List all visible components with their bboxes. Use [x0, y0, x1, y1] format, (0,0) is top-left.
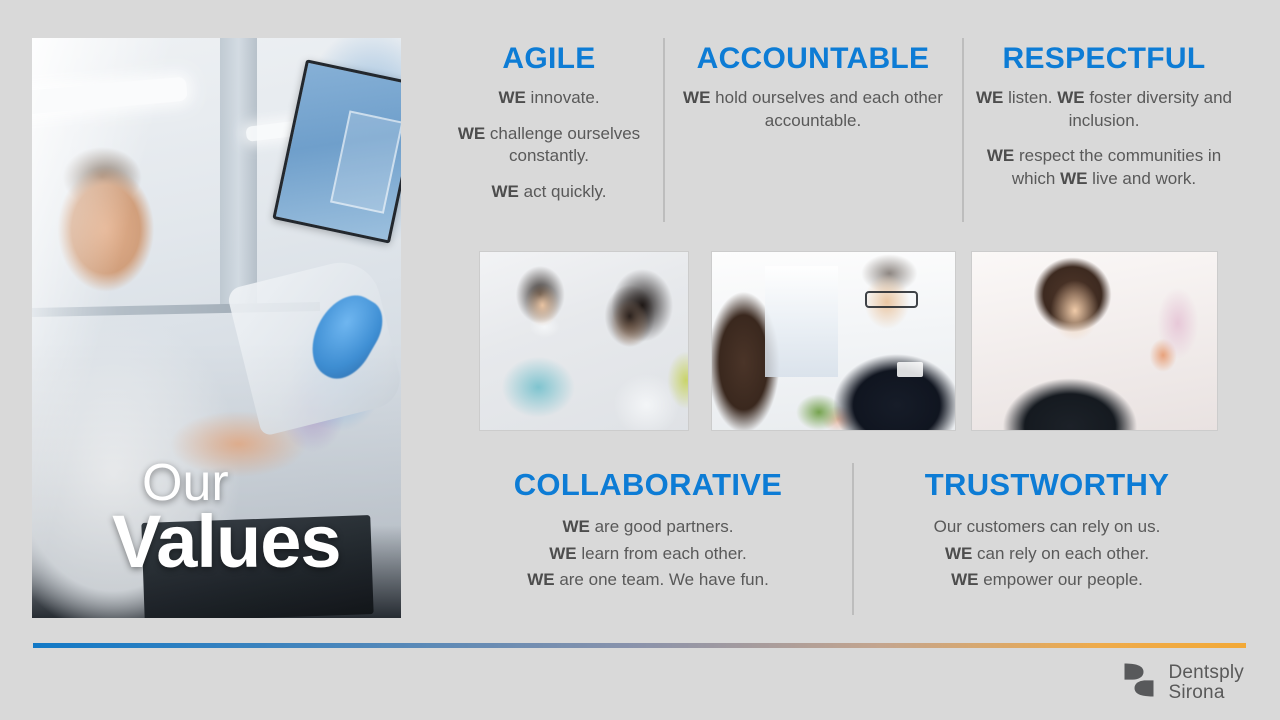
value-title-trustworthy: TRUSTWORTHY — [878, 468, 1216, 502]
emphasis-we: WE — [549, 544, 576, 563]
divider-collaborative-trustworthy — [852, 463, 854, 615]
value-text: learn from each other. — [577, 544, 747, 563]
photo-2-shirt-logo — [897, 362, 924, 376]
value-body-agile: WE innovate.WE challenge ourselves const… — [455, 87, 643, 203]
brand-line-2: Sirona — [1168, 683, 1244, 703]
value-line: WE respect the communities in which WE l… — [975, 145, 1233, 190]
value-line: WE innovate. — [455, 87, 643, 110]
footer-gradient-bar — [33, 643, 1246, 648]
slide-canvas: Our Values AGILE WE innovate.WE challeng… — [0, 0, 1280, 720]
value-column-accountable: ACCOUNTABLE WE hold ourselves and each o… — [682, 42, 944, 132]
emphasis-we: WE — [492, 182, 519, 201]
photo-1-content — [480, 252, 688, 430]
value-column-collaborative: COLLABORATIVE WE are good partners.WE le… — [486, 468, 810, 594]
emphasis-we: WE — [683, 88, 710, 107]
value-text: are good partners. — [590, 517, 734, 536]
value-text: challenge ourselves constantly. — [485, 124, 640, 166]
photo-2-glasses — [865, 291, 918, 307]
value-title-collaborative: COLLABORATIVE — [486, 468, 810, 502]
emphasis-we: WE — [945, 544, 972, 563]
photo-clinician-with-model — [712, 252, 955, 430]
value-column-agile: AGILE WE innovate.WE challenge ourselves… — [455, 42, 643, 203]
value-text: live and work. — [1087, 169, 1196, 188]
value-text: empower our people. — [978, 570, 1142, 589]
value-title-respectful: RESPECTFUL — [975, 42, 1233, 75]
emphasis-we: WE — [1057, 88, 1084, 107]
dentsply-sirona-mark-icon — [1122, 662, 1156, 703]
value-text: can rely on each other. — [972, 544, 1149, 563]
value-line: WE learn from each other. — [486, 541, 810, 568]
emphasis-we: WE — [1060, 169, 1087, 188]
value-body-trustworthy: Our customers can rely on us.WE can rely… — [878, 514, 1216, 594]
emphasis-we: WE — [527, 570, 554, 589]
value-body-respectful: WE listen. WE foster diversity and inclu… — [975, 87, 1233, 190]
emphasis-we: WE — [987, 146, 1014, 165]
value-body-accountable: WE hold ourselves and each other account… — [682, 87, 944, 132]
value-line: WE are good partners. — [486, 514, 810, 541]
value-text: listen. — [1003, 88, 1057, 107]
photo-dental-patient-and-assistant — [480, 252, 688, 430]
value-body-collaborative: WE are good partners.WE learn from each … — [486, 514, 810, 594]
divider-agile-accountable — [663, 38, 665, 222]
value-line: WE listen. WE foster diversity and inclu… — [975, 87, 1233, 132]
photo-2-window — [765, 266, 838, 376]
value-text: foster diversity and inclusion. — [1069, 88, 1232, 130]
photo-3-content — [972, 252, 1217, 430]
dentsply-sirona-logo: Dentsply Sirona — [1122, 662, 1244, 703]
emphasis-we: WE — [498, 88, 525, 107]
value-line: WE can rely on each other. — [878, 541, 1216, 568]
value-line: WE are one team. We have fun. — [486, 567, 810, 594]
value-text: are one team. We have fun. — [555, 570, 769, 589]
value-text: hold ourselves and each other accountabl… — [710, 88, 943, 130]
value-line: WE act quickly. — [455, 181, 643, 204]
value-line: Our customers can rely on us. — [878, 514, 1216, 541]
emphasis-we: WE — [951, 570, 978, 589]
emphasis-we: WE — [562, 517, 589, 536]
hero-title-line-2: Values — [112, 508, 341, 576]
brand-line-1: Dentsply — [1168, 663, 1244, 683]
value-title-accountable: ACCOUNTABLE — [682, 42, 944, 75]
value-line: WE challenge ourselves constantly. — [455, 123, 643, 168]
dentsply-sirona-wordmark: Dentsply Sirona — [1168, 663, 1244, 703]
value-line: WE empower our people. — [878, 567, 1216, 594]
divider-accountable-respectful — [962, 38, 964, 222]
value-title-agile: AGILE — [455, 42, 643, 75]
value-line: WE hold ourselves and each other account… — [682, 87, 944, 132]
photo-professional-portrait — [972, 252, 1217, 430]
emphasis-we: WE — [458, 124, 485, 143]
value-text: Our customers can rely on us. — [934, 517, 1161, 536]
value-text: innovate. — [526, 88, 600, 107]
emphasis-we: WE — [976, 88, 1003, 107]
value-text: act quickly. — [519, 182, 607, 201]
value-column-trustworthy: TRUSTWORTHY Our customers can rely on us… — [878, 468, 1216, 594]
value-column-respectful: RESPECTFUL WE listen. WE foster diversit… — [975, 42, 1233, 190]
hero-image: Our Values — [32, 38, 401, 618]
hero-title: Our Values — [142, 460, 341, 576]
